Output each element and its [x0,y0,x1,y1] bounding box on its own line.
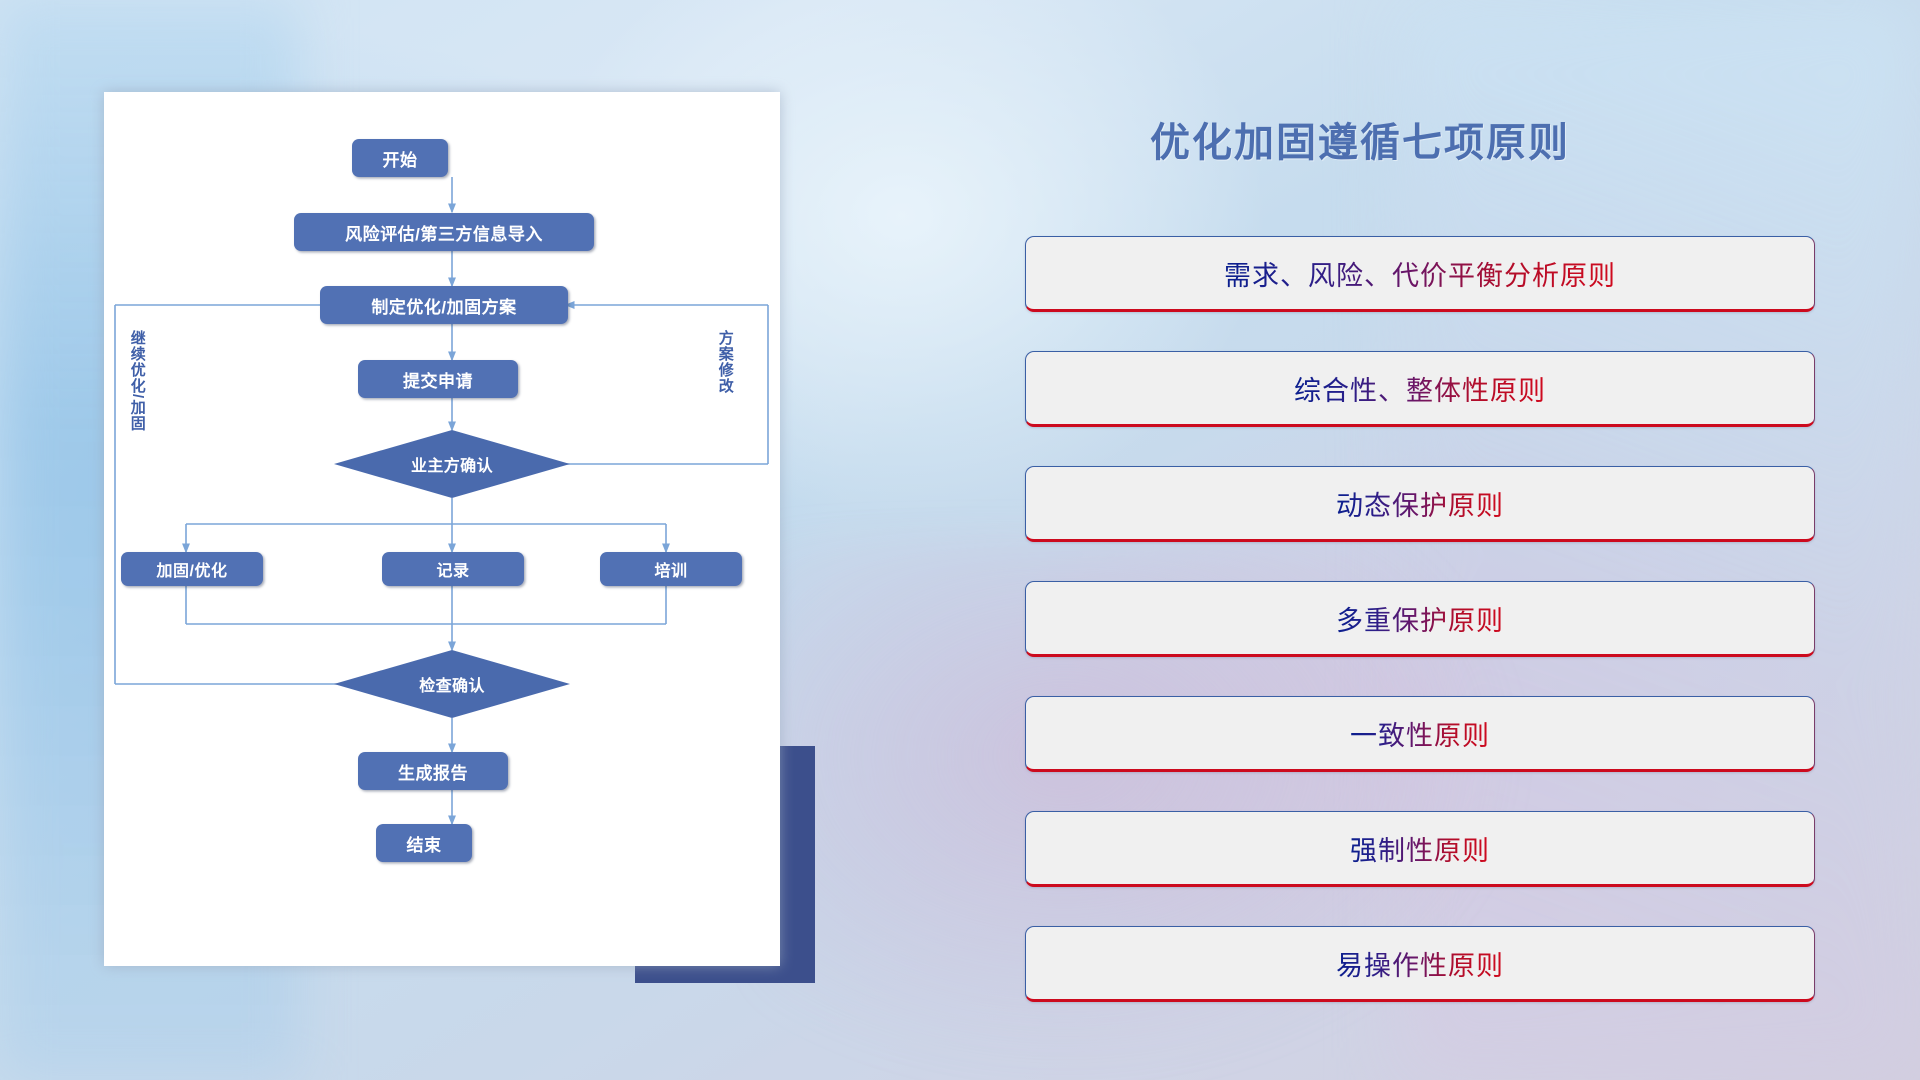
flow-node-end[interactable]: 结束 [376,824,472,862]
flow-node-submit-application[interactable]: 提交申请 [358,360,518,398]
principle-card-3[interactable]: 动态保护原则 [1025,466,1815,542]
principle-card-4[interactable]: 多重保护原则 [1025,581,1815,657]
flow-node-label: 结束 [407,831,442,856]
flow-node-start[interactable]: 开始 [352,139,448,177]
flow-node-label: 加固/优化 [157,557,228,581]
flow-decision-inspection-confirm[interactable]: 检查确认 [334,650,570,718]
flow-decision-owner-confirm[interactable]: 业主方确认 [334,430,570,498]
flow-node-reinforce-optimize[interactable]: 加固/优化 [121,552,263,586]
principle-card-label: 强制性原则 [1350,829,1490,868]
flow-node-label: 记录 [436,557,469,581]
principle-card-2[interactable]: 综合性、整体性原则 [1025,351,1815,427]
principle-card-7[interactable]: 易操作性原则 [1025,926,1815,1002]
principles-card-list: 需求、风险、代价平衡分析原则 综合性、整体性原则 动态保护原则 多重保护原则 一… [1025,236,1815,1041]
principle-card-label: 综合性、整体性原则 [1294,369,1546,408]
principles-panel-title: 优化加固遵循七项原则 [1150,110,1570,168]
principle-card-label: 动态保护原则 [1336,484,1504,523]
principle-card-1[interactable]: 需求、风险、代价平衡分析原则 [1025,236,1815,312]
flowchart-card: 开始 风险评估/第三方信息导入 制定优化/加固方案 提交申请 业主方确认 加固/… [104,92,780,966]
principle-card-label: 多重保护原则 [1336,599,1504,638]
flow-node-label: 风险评估/第三方信息导入 [345,220,543,245]
principle-card-6[interactable]: 强制性原则 [1025,811,1815,887]
principle-card-5[interactable]: 一致性原则 [1025,696,1815,772]
flow-node-label: 制定优化/加固方案 [371,293,516,318]
flow-edge-label-text: 方案修改 [717,330,734,394]
flow-node-label: 开始 [383,146,418,171]
flow-node-generate-report[interactable]: 生成报告 [358,752,508,790]
flowchart-canvas: 开始 风险评估/第三方信息导入 制定优化/加固方案 提交申请 业主方确认 加固/… [104,92,780,966]
flow-node-label: 检查确认 [419,672,485,696]
flow-node-label: 业主方确认 [411,452,493,476]
flow-edge-label-continue-optimize: 继续优化/加固 [129,330,145,431]
flow-edge-label-plan-revision: 方案修改 [717,330,733,394]
flow-edge-label-text: 继续优化/加固 [129,330,146,431]
principle-card-label: 易操作性原则 [1336,944,1504,983]
flow-node-plan[interactable]: 制定优化/加固方案 [320,286,568,324]
flow-node-label: 培训 [654,557,687,581]
flow-node-training[interactable]: 培训 [600,552,742,586]
flow-node-record[interactable]: 记录 [382,552,524,586]
flow-node-label: 生成报告 [398,759,468,784]
flow-node-label: 提交申请 [403,367,473,392]
principle-card-label: 一致性原则 [1350,714,1490,753]
principle-card-label: 需求、风险、代价平衡分析原则 [1224,254,1616,293]
flow-node-risk-assessment[interactable]: 风险评估/第三方信息导入 [294,213,594,251]
